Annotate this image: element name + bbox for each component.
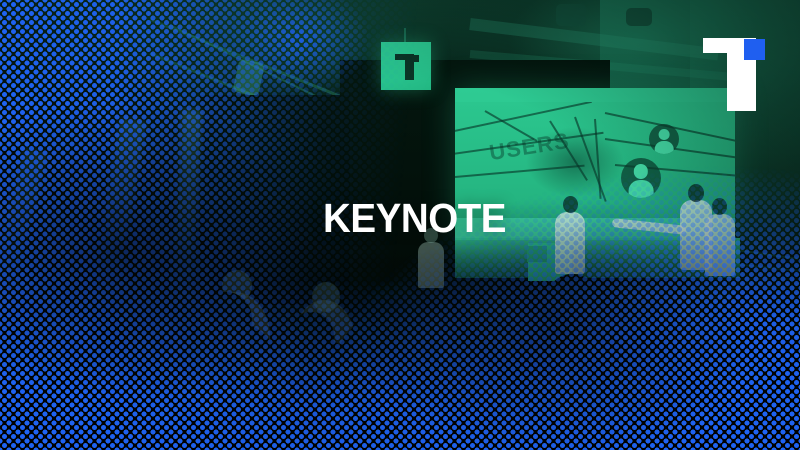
sign-hanging-wire [404,28,406,43]
presenter-head [688,184,704,202]
banner-canvas: USERS [0,0,800,450]
audience-head [312,282,340,312]
audience-head [726,286,780,342]
stage-light-beam [0,147,48,318]
presenter-head [712,198,727,215]
presenter-figure-dark [418,242,444,288]
slide-avatar [649,124,679,154]
stage-light-fixture [556,4,586,26]
slide-caption: USERS [487,128,571,166]
audience-head [640,302,688,352]
stage-podium-top [527,246,547,262]
audience-head [96,318,150,374]
stage-light-fixture [626,8,652,26]
logo-blue-square-icon [744,39,765,60]
audience-head [8,300,58,352]
audience-head [546,274,598,328]
venue-logo-sign-mark-icon [395,54,419,80]
page-title: KEYNOTE [323,196,506,240]
audience-head [462,296,512,348]
audience-head [366,282,420,338]
presenter-figure [705,214,735,276]
audience-head [288,312,334,360]
audience-head [200,292,252,346]
slide-avatar [621,158,661,198]
presenter-figure [555,212,585,274]
numeral-one-logo [703,38,765,111]
presenter-head [563,196,578,213]
